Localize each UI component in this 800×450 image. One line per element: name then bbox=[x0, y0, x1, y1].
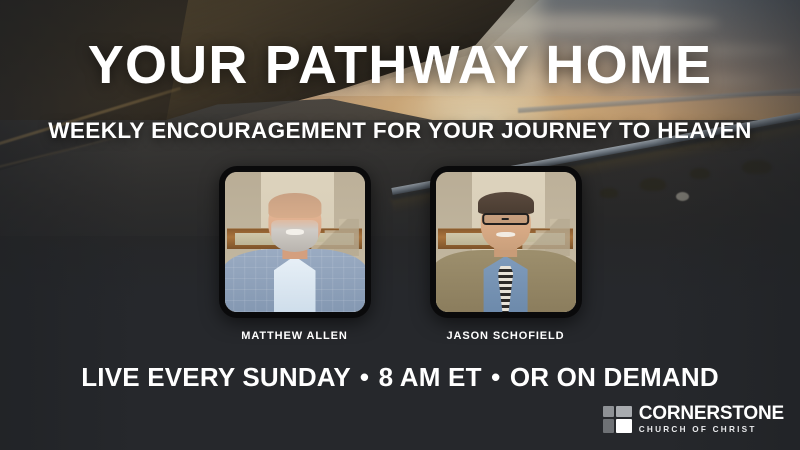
content-layer: YOUR PATHWAY HOME WEEKLY ENCOURAGEMENT F… bbox=[0, 0, 800, 450]
logo-tagline: CHURCH OF CHRIST bbox=[639, 426, 784, 434]
logo-block-2 bbox=[616, 406, 632, 417]
mouth bbox=[285, 229, 303, 235]
logo-block-1 bbox=[603, 406, 614, 417]
speaker-card: MATTHEW ALLEN bbox=[219, 166, 371, 342]
schedule-part-3: OR ON DEMAND bbox=[510, 362, 719, 392]
speaker-photo-frame bbox=[430, 166, 582, 318]
bullet-separator-icon: • bbox=[358, 362, 371, 393]
church-logo: CORNERSTONE CHURCH OF CHRIST bbox=[603, 404, 784, 434]
promo-graphic: YOUR PATHWAY HOME WEEKLY ENCOURAGEMENT F… bbox=[0, 0, 800, 450]
eyeglasses-icon bbox=[482, 213, 530, 226]
speaker-photo-matthew-allen bbox=[225, 172, 365, 312]
speaker-photo-frame bbox=[219, 166, 371, 318]
bullet-separator-icon: • bbox=[489, 362, 502, 393]
logo-block-4 bbox=[616, 419, 632, 433]
hairline bbox=[268, 193, 321, 218]
schedule-part-1: LIVE EVERY SUNDAY bbox=[81, 362, 350, 392]
speaker-name: JASON SCHOFIELD bbox=[430, 330, 582, 342]
page-subtitle: WEEKLY ENCOURAGEMENT FOR YOUR JOURNEY TO… bbox=[0, 118, 800, 144]
logo-wordmark: CORNERSTONE CHURCH OF CHRIST bbox=[639, 404, 784, 434]
speaker-name: MATTHEW ALLEN bbox=[219, 330, 371, 342]
logo-block-3 bbox=[603, 419, 614, 433]
schedule-banner: LIVE EVERY SUNDAY • 8 AM ET • OR ON DEMA… bbox=[0, 362, 800, 393]
beard bbox=[271, 220, 319, 252]
speaker-photo-jason-schofield bbox=[436, 172, 576, 312]
mouth bbox=[496, 232, 516, 237]
speaker-card: JASON SCHOFIELD bbox=[430, 166, 582, 342]
hair bbox=[478, 192, 534, 214]
logo-name: CORNERSTONE bbox=[639, 404, 784, 423]
schedule-part-2: 8 AM ET bbox=[379, 362, 482, 392]
four-square-block-icon bbox=[603, 406, 632, 433]
page-title: YOUR PATHWAY HOME bbox=[0, 38, 800, 92]
speaker-list: MATTHEW ALLEN bbox=[0, 166, 800, 342]
